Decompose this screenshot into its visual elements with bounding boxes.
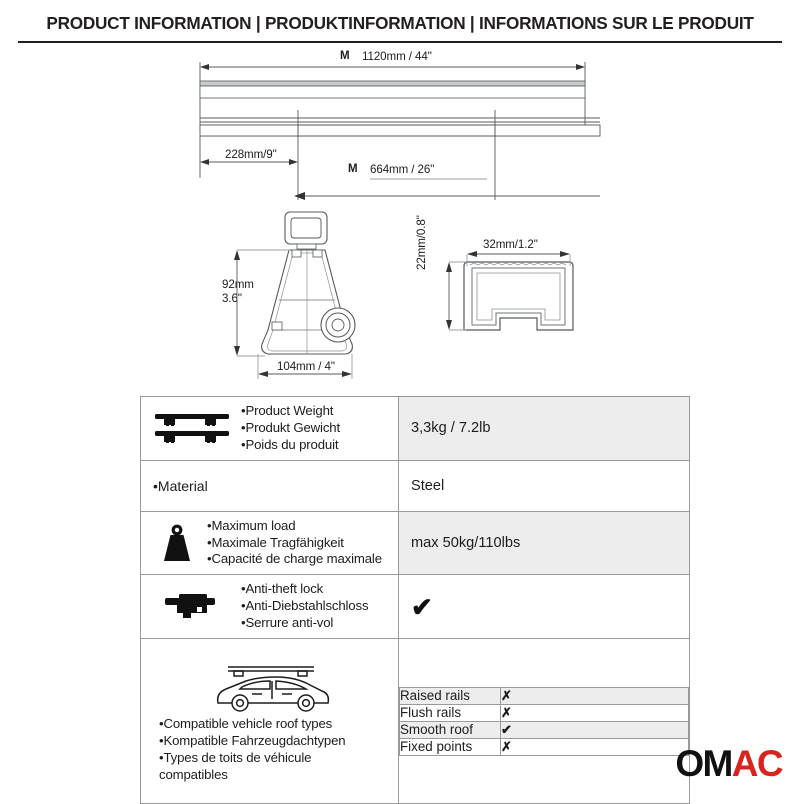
row-label-cell-maxload: •Maximum load •Maximale Tragfähigkeit •C… xyxy=(141,511,399,575)
roof-type-row: Fixed points ✗ xyxy=(400,738,689,755)
row-value-maxload: max 50kg/110lbs xyxy=(399,511,690,575)
table-row: •Material Steel xyxy=(141,460,690,511)
row-value-lock: ✔ xyxy=(399,575,690,639)
label-line: •Serrure anti-vol xyxy=(241,615,368,632)
rooftypes-labels: •Compatible vehicle roof types •Kompatib… xyxy=(149,715,394,784)
maxload-labels: •Maximum load •Maximale Tragfähigkeit •C… xyxy=(207,518,382,569)
weight-icon xyxy=(149,522,205,564)
label-line: •Types de toits de véhicule xyxy=(159,749,388,766)
omac-logo: OMAC xyxy=(675,745,782,782)
roof-type-row: Raised rails ✗ xyxy=(400,687,689,704)
label-line: •Anti-Diebstahlschloss xyxy=(241,598,368,615)
logo-part-om: OM xyxy=(675,743,731,784)
label-line: •Anti-theft lock xyxy=(241,581,368,598)
roof-types-table: Raised rails ✗ Flush rails ✗ Smooth roof… xyxy=(399,687,689,756)
table-row: •Product Weight •Produkt Gewicht •Poids … xyxy=(141,397,690,461)
car-with-rack-icon xyxy=(149,659,394,715)
row-label-cell-rooftypes: •Compatible vehicle roof types •Kompatib… xyxy=(141,639,399,804)
roof-type-row: Flush rails ✗ xyxy=(400,704,689,721)
table-row: •Anti-theft lock •Anti-Diebstahlschloss … xyxy=(141,575,690,639)
drawing-geometry xyxy=(0,0,800,396)
roof-type-mark: ✗ xyxy=(501,687,689,704)
weight-labels: •Product Weight •Produkt Gewicht •Poids … xyxy=(241,403,340,454)
label-line: •Material xyxy=(149,478,394,494)
rooftypes-subtable-cell: Raised rails ✗ Flush rails ✗ Smooth roof… xyxy=(399,639,690,804)
roof-type-mark: ✗ xyxy=(501,738,689,755)
roof-type-name: Smooth roof xyxy=(400,721,501,738)
roof-type-name: Flush rails xyxy=(400,704,501,721)
lock-icon xyxy=(149,590,235,624)
lock-labels: •Anti-theft lock •Anti-Diebstahlschloss … xyxy=(241,581,368,632)
crossbars-icon xyxy=(149,408,235,448)
row-label-cell-material: •Material xyxy=(141,460,399,511)
row-label-cell-lock: •Anti-theft lock •Anti-Diebstahlschloss … xyxy=(141,575,399,639)
label-line: •Compatible vehicle roof types xyxy=(159,715,388,732)
roof-type-name: Fixed points xyxy=(400,738,501,755)
row-value-material: Steel xyxy=(399,460,690,511)
table-row: •Compatible vehicle roof types •Kompatib… xyxy=(141,639,690,804)
logo-part-ac: AC xyxy=(732,743,782,784)
label-line: •Maximale Tragfähigkeit xyxy=(207,535,382,552)
product-information-page: PRODUCT INFORMATION | PRODUKTINFORMATION… xyxy=(0,0,800,800)
label-line: •Maximum load xyxy=(207,518,382,535)
roof-type-row: Smooth roof ✔ xyxy=(400,721,689,738)
row-label-cell-weight: •Product Weight •Produkt Gewicht •Poids … xyxy=(141,397,399,461)
table-row: •Maximum load •Maximale Tragfähigkeit •C… xyxy=(141,511,690,575)
rooftypes-icon-and-labels: •Compatible vehicle roof types •Kompatib… xyxy=(149,659,394,784)
label-line: •Poids du produit xyxy=(241,437,340,454)
row-value-weight: 3,3kg / 7.2lb xyxy=(399,397,690,461)
label-line: compatibles xyxy=(159,766,388,783)
specifications-table: •Product Weight •Produkt Gewicht •Poids … xyxy=(140,396,690,804)
roof-type-mark: ✔ xyxy=(501,721,689,738)
label-line: •Produkt Gewicht xyxy=(241,420,340,437)
roof-type-mark: ✗ xyxy=(501,704,689,721)
label-line: •Product Weight xyxy=(241,403,340,420)
roof-type-name: Raised rails xyxy=(400,687,501,704)
checkmark-icon: ✔ xyxy=(411,592,433,622)
label-line: •Capacité de charge maximale xyxy=(207,551,382,568)
label-line: •Kompatible Fahrzeugdachtypen xyxy=(159,732,388,749)
